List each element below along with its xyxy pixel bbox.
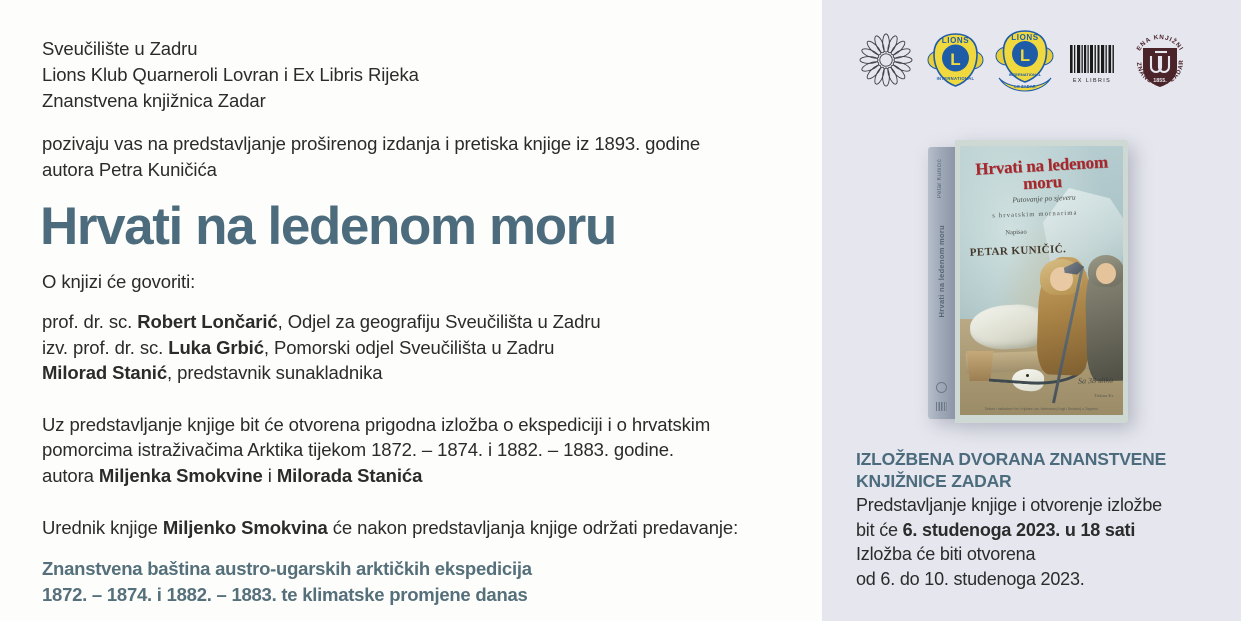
speakers-list: prof. dr. sc. Robert Lončarić, Odjel za … — [42, 309, 792, 386]
logo-row: L LIONS INTERNATIONAL L LIONS INTERNATIO… — [822, 0, 1241, 72]
lions-banner-label: LC ZADAR — [1014, 84, 1035, 89]
znanstvena-knjiznica-zadar-seal-icon: ENA KNJIŽNI ZNANSTV CA ZADAR 1855. — [1129, 28, 1191, 97]
left-content-panel: Sveučilište u Zadru Lions Klub Quarnerol… — [0, 0, 822, 621]
organizer-line-3: Znanstvena knjižnica Zadar — [42, 88, 792, 114]
venue-info-block: IZLOŽBENA DVORANA ZNANSTVENE KNJIŽNICE Z… — [856, 448, 1225, 591]
speaker-affiliation: , predstavnik sunakladnika — [167, 362, 382, 383]
exhibition-line-3: autora Miljenka Smokvine i Milorada Stan… — [42, 463, 792, 489]
cover-title: Hrvati na ledenom moru — [966, 153, 1118, 195]
book-spine: Petar Kuničić Hrvati na ledenom moru — [928, 147, 955, 419]
lions-top-label: LIONS — [942, 36, 970, 45]
exhibition-line-1: Uz predstavljanje knjige bit će otvorena… — [42, 412, 792, 438]
speaker-row: Milorad Stanić, predstavnik sunakladnika — [42, 360, 792, 386]
ex-libris-label: EX LIBRIS — [1073, 78, 1111, 84]
venue-event-datetime: bit će 6. studenoga 2023. u 18 sati — [856, 518, 1225, 543]
seal-year-label: 1855. — [1153, 78, 1167, 84]
ex-libris-barcode-icon: EX LIBRIS — [1066, 33, 1118, 92]
university-of-zadar-rosette-icon — [856, 30, 916, 95]
cover-byline: Napisao — [976, 228, 1056, 238]
organizers-block: Sveučilište u Zadru Lions Klub Quarnerol… — [42, 36, 792, 114]
lecture-title-line-2: 1872. – 1874. i 1882. – 1883. te klimats… — [42, 582, 792, 608]
editor-prefix: Urednik knjige — [42, 517, 163, 538]
publisher-mark-icon — [936, 382, 947, 393]
speakers-intro: O knjizi će govoriti: — [42, 269, 792, 295]
speaker-affiliation: , Pomorski odjel Sveučilišta u Zadru — [264, 337, 554, 358]
speaker-prefix: prof. dr. sc. — [42, 311, 137, 332]
editor-name: Miljenko Smokvina — [163, 517, 328, 538]
invitation-text: pozivaju vas na predstavljanje prošireno… — [42, 131, 792, 183]
venue-title: IZLOŽBENA DVORANA ZNANSTVENE KNJIŽNICE Z… — [856, 448, 1225, 492]
lions-center-letter: L — [950, 50, 960, 69]
editor-suffix: će nakon predstavljanja knjige održati p… — [328, 517, 738, 538]
book-front-cover: Hrvati na ledenom moru Putovanje po sjev… — [955, 140, 1128, 423]
speaker-name: Robert Lončarić — [137, 311, 277, 332]
speaker-prefix: izv. prof. dr. sc. — [42, 337, 168, 358]
cover-publisher: Tiskara Kr. — [1094, 393, 1114, 398]
organizer-line-2: Lions Klub Quarneroli Lovran i Ex Libris… — [42, 62, 792, 88]
book-3d: Petar Kuničić Hrvati na ledenom moru — [928, 140, 1128, 423]
exhibition-author-1: Miljenka Smokvine — [99, 465, 263, 486]
exhibition-line-2: pomorcima istraživačima Arktika tijekom … — [42, 437, 792, 463]
speaker-name: Luka Grbić — [168, 337, 264, 358]
exhibition-authors-prefix: autora — [42, 465, 99, 486]
exhibition-paragraph: Uz predstavljanje knjige bit će otvorena… — [42, 412, 792, 489]
venue-title-line-2: KNJIŽNICE ZADAR — [856, 470, 1225, 492]
book-spine-title: Hrvati na ledenom moru — [937, 225, 946, 317]
venue-datetime-value: 6. studenoga 2023. u 18 sati — [903, 520, 1136, 540]
speaker-affiliation: , Odjel za geografiju Sveučilišta u Zadr… — [278, 311, 601, 332]
venue-event-line-1: Predstavljanje knjige i otvorenje izložb… — [856, 493, 1225, 518]
right-sidebar-panel: L LIONS INTERNATIONAL L LIONS INTERNATIO… — [822, 0, 1241, 621]
lions-center-letter: L — [1020, 47, 1030, 65]
lecture-title: Znanstvena baština austro-ugarskih arkti… — [42, 556, 792, 607]
venue-exhibition-dates: od 6. do 10. studenoga 2023. — [856, 567, 1225, 592]
event-poster: Sveučilište u Zadru Lions Klub Quarnerol… — [0, 0, 1241, 621]
lions-international-icon: L LIONS INTERNATIONAL — [927, 30, 984, 95]
exhibition-author-2: Milorada Stanića — [277, 465, 422, 486]
speaker-row: izv. prof. dr. sc. Luka Grbić, Pomorski … — [42, 335, 792, 361]
spine-barcode-icon — [936, 402, 947, 411]
cover-illustration-count: Sa 38 slika — [1078, 375, 1113, 385]
venue-title-line-1: IZLOŽBENA DVORANA ZNANSTVENE — [856, 448, 1225, 470]
lions-bottom-label: INTERNATIONAL — [937, 76, 975, 81]
sailor-face-right — [1096, 263, 1116, 284]
cover-illustration: Hrvati na ledenom moru Putovanje po sjev… — [960, 146, 1123, 415]
lions-bottom-label: INTERNATIONAL — [1009, 72, 1042, 77]
speaker-name: Milorad Stanić — [42, 362, 167, 383]
organizer-line-1: Sveučilište u Zadru — [42, 36, 792, 62]
book-spine-author: Petar Kuničić — [937, 159, 943, 198]
venue-datetime-prefix: bit će — [856, 520, 903, 540]
editor-paragraph: Urednik knjige Miljenko Smokvina će nako… — [42, 515, 792, 541]
invitation-line-2: autora Petra Kuničića — [42, 157, 792, 183]
cover-footer-line: Tiskom i nakladom Hrv. Knjižare Lav. Har… — [970, 407, 1113, 411]
speaker-row: prof. dr. sc. Robert Lončarić, Odjel za … — [42, 309, 792, 335]
invitation-line-1: pozivaju vas na predstavljanje prošireno… — [42, 131, 792, 157]
exhibition-authors-mid: i — [263, 465, 277, 486]
lions-club-zadar-icon: L LIONS INTERNATIONAL LC ZADAR — [995, 28, 1055, 97]
lions-top-label: LIONS — [1011, 33, 1039, 42]
page-title: Hrvati na ledenom moru — [40, 197, 792, 257]
book-cover-image: Petar Kuničić Hrvati na ledenom moru — [914, 140, 1144, 430]
lecture-title-line-1: Znanstvena baština austro-ugarskih arkti… — [42, 556, 792, 582]
venue-exhibition-line: Izložba će biti otvorena — [856, 542, 1225, 567]
